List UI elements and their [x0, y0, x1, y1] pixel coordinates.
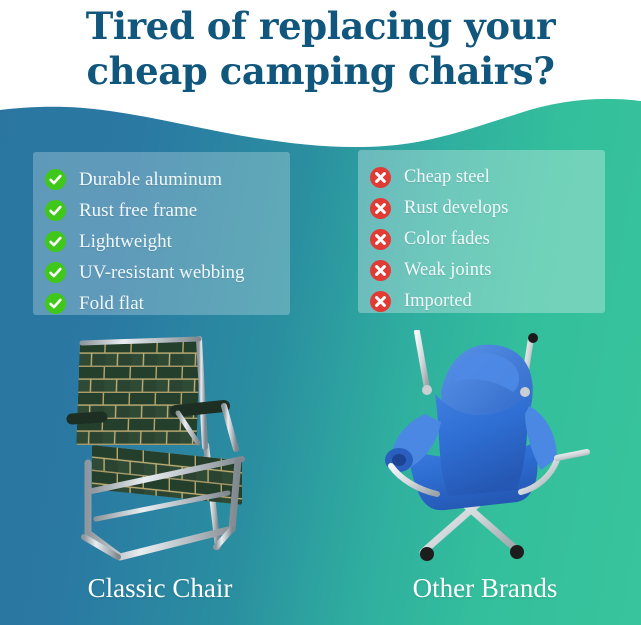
list-item: Lightweight: [45, 226, 280, 256]
pros-panel: Durable aluminum Rust free frame Lightwe…: [33, 152, 290, 315]
headline-line-1: Tired of replacing your: [86, 4, 555, 48]
x-circle-icon: [370, 291, 391, 312]
infographic-poster: Tired of replacing your cheap camping ch…: [0, 0, 641, 625]
x-circle-icon: [370, 198, 391, 219]
x-circle-icon: [370, 229, 391, 250]
other-brand-chair-image: [345, 330, 595, 565]
list-item: Cheap steel: [370, 162, 595, 192]
headline-line-2: cheap camping chairs?: [0, 49, 641, 94]
pros-list: Durable aluminum Rust free frame Lightwe…: [45, 164, 280, 318]
list-item-label: UV-resistant webbing: [79, 262, 245, 283]
list-item: Color fades: [370, 224, 595, 254]
other-brands-caption: Other Brands: [360, 572, 610, 604]
list-item: Rust free frame: [45, 195, 280, 225]
list-item-label: Lightweight: [79, 231, 172, 252]
list-item-label: Color fades: [404, 229, 490, 250]
check-circle-icon: [45, 293, 66, 314]
classic-chair-image: [58, 333, 273, 565]
check-circle-icon: [45, 169, 66, 190]
x-circle-icon: [370, 260, 391, 281]
list-item: Weak joints: [370, 255, 595, 285]
list-item-label: Weak joints: [404, 260, 491, 281]
list-item: Fold flat: [45, 288, 280, 318]
check-circle-icon: [45, 200, 66, 221]
list-item-label: Fold flat: [79, 293, 144, 314]
classic-chair-caption: Classic Chair: [30, 572, 290, 604]
list-item: Imported: [370, 286, 595, 316]
list-item-label: Rust develops: [404, 198, 508, 219]
list-item-label: Durable aluminum: [79, 169, 222, 190]
cons-panel: Cheap steel Rust develops Color fades: [358, 150, 605, 313]
check-circle-icon: [45, 262, 66, 283]
page-title: Tired of replacing your cheap camping ch…: [0, 4, 641, 94]
cons-list: Cheap steel Rust develops Color fades: [370, 162, 595, 316]
list-item: Durable aluminum: [45, 164, 280, 194]
list-item-label: Rust free frame: [79, 200, 197, 221]
list-item-label: Cheap steel: [404, 167, 490, 188]
list-item-label: Imported: [404, 291, 472, 312]
list-item: Rust develops: [370, 193, 595, 223]
list-item: UV-resistant webbing: [45, 257, 280, 287]
x-circle-icon: [370, 167, 391, 188]
check-circle-icon: [45, 231, 66, 252]
